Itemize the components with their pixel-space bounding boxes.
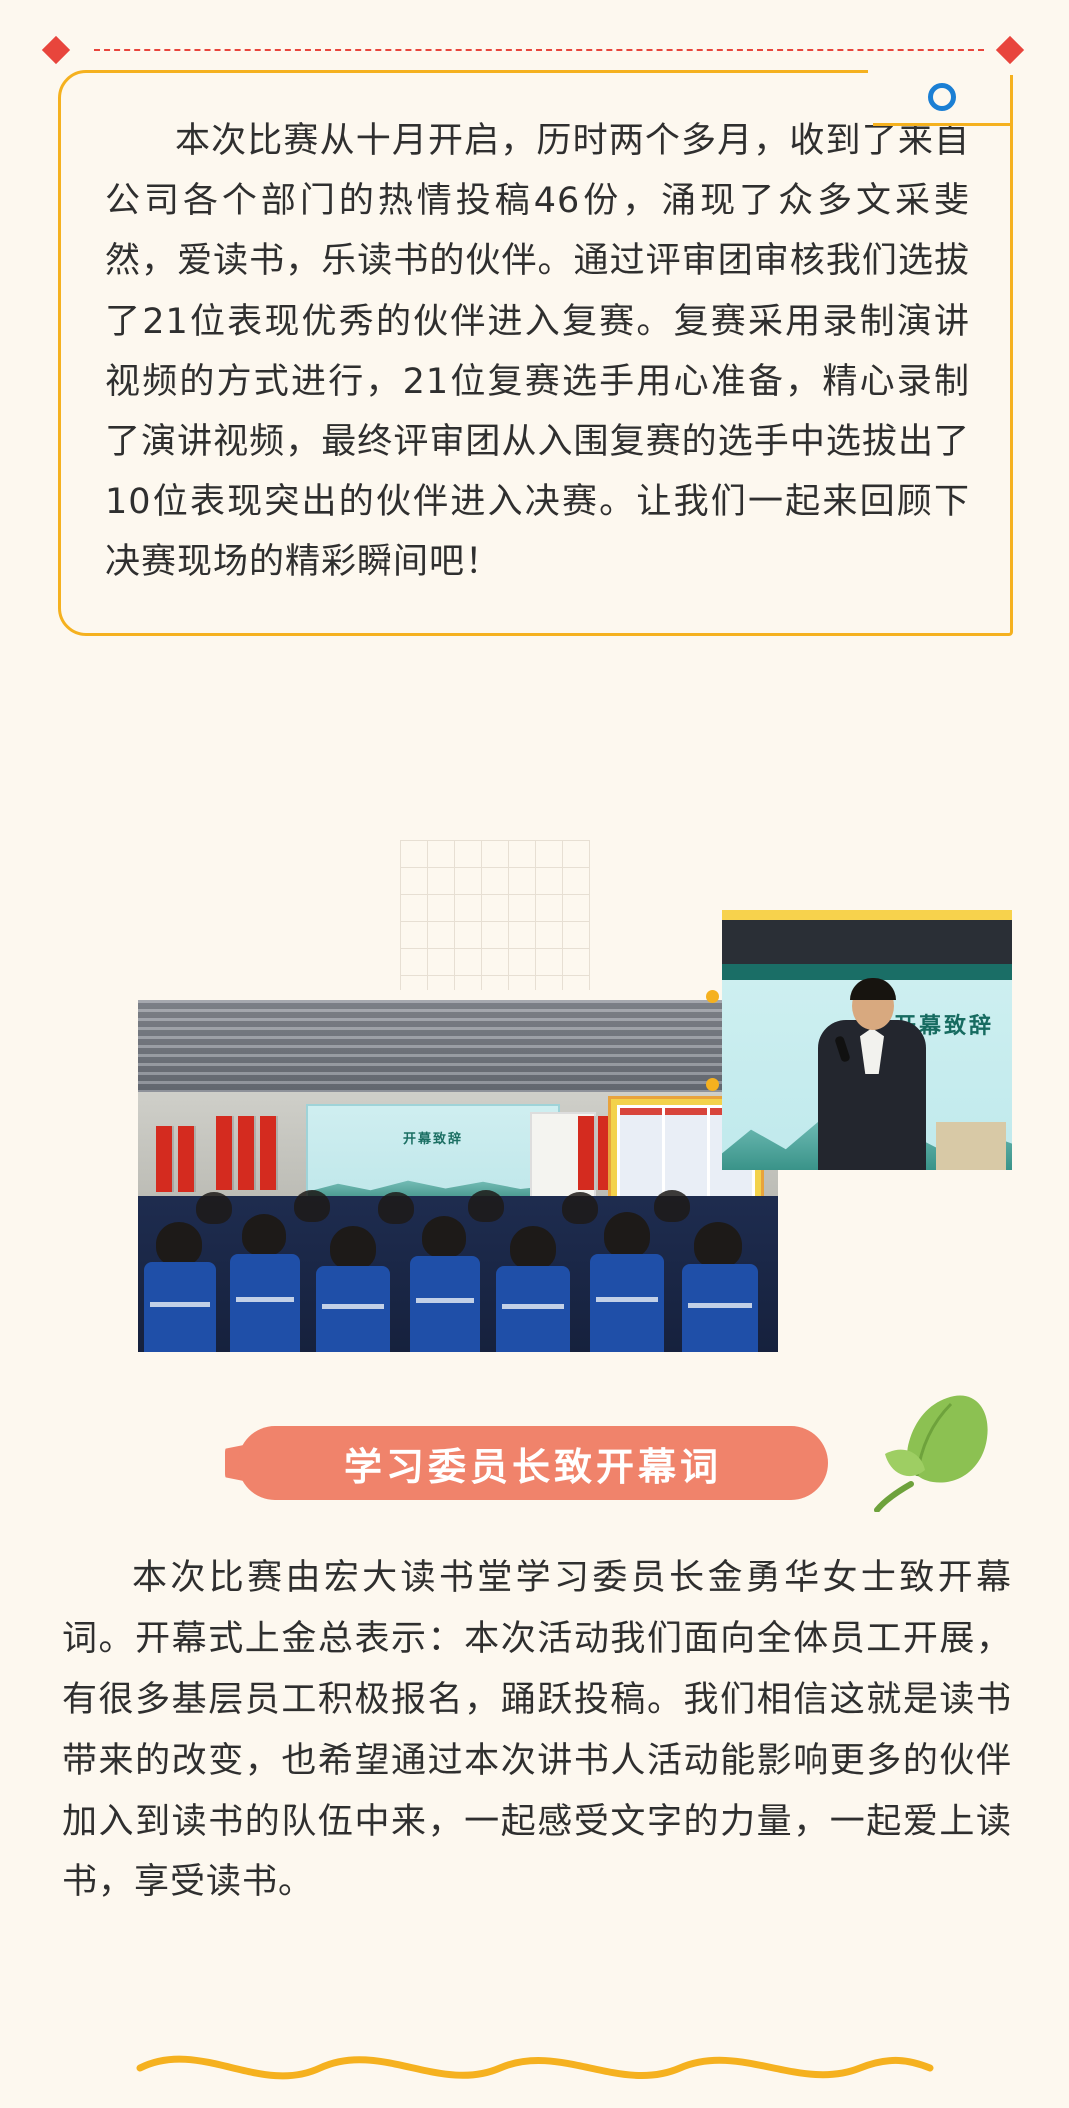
ceiling [722,920,1012,964]
flag-icon [156,1126,172,1192]
audience-head [510,1226,556,1270]
audience-head [330,1226,376,1270]
audience-head [654,1190,690,1222]
audience-head [604,1212,650,1258]
section-banner: 学习委员长致开幕词 [238,1426,828,1500]
flag-icon [260,1116,276,1190]
section-banner-wrap: 学习委员长致开幕词 [0,1412,1069,1532]
flag-icon [578,1116,594,1190]
accent-dot-icon [706,1078,719,1091]
audience-head [378,1192,414,1224]
intro-card: 本次比赛从十月开启，历时两个多月，收到了来自公司各个部门的热情投稿46份，涌现了… [58,70,1013,636]
photo-speaker: 开幕致辞 [722,910,1012,1170]
info-board-column [620,1108,662,1200]
accent-dot-icon [706,990,719,1003]
flag-icon [178,1126,194,1192]
audience-uniform [410,1256,480,1352]
card-notch [873,70,1013,126]
circle-ring-icon [928,83,956,111]
section-title: 学习委员长致开幕词 [344,1436,722,1491]
body-paragraph: 本次比赛由宏大读书堂学习委员长金勇华女士致开幕词。开幕式上金总表示：本次活动我们… [62,1548,1012,1913]
photo-section: 开幕致辞 [0,820,1069,1380]
podium [936,1122,1006,1170]
grid-pattern-icon [400,840,590,990]
diamond-icon [42,36,70,64]
audience-uniform [316,1266,390,1352]
audience-uniform [144,1262,216,1352]
audience-uniform [682,1264,758,1352]
audience-uniform [230,1254,300,1352]
audience-head [294,1190,330,1222]
wave-divider-icon [0,2034,1069,2094]
audience-uniform [496,1266,570,1352]
dashed-line [94,49,984,51]
audience-head [196,1192,232,1224]
article-page: 本次比赛从十月开启，历时两个多月，收到了来自公司各个部门的热情投稿46份，涌现了… [0,0,1069,2108]
photo-auditorium: 开幕致辞 [138,1000,778,1352]
audience-head [242,1214,286,1256]
audience-head [422,1216,466,1258]
audience-head [562,1192,598,1224]
stage-screen: 开幕致辞 [306,1104,560,1204]
notch-mask [868,67,1014,75]
audience-head [694,1222,742,1268]
audience-area [138,1196,778,1352]
intro-paragraph: 本次比赛从十月开启，历时两个多月，收到了来自公司各个部门的热情投稿46份，涌现了… [105,111,970,593]
stage-screen-text: 开幕致辞 [308,1128,558,1147]
audience-head [156,1222,202,1266]
diamond-icon [996,36,1024,64]
ceiling [138,1000,778,1092]
audience-uniform [590,1254,664,1352]
top-divider [0,38,1069,62]
leaf-icon [855,1382,995,1512]
audience-head [468,1190,504,1222]
info-board-column [665,1108,707,1200]
flag-icon [216,1116,232,1190]
flag-icon [238,1116,254,1190]
